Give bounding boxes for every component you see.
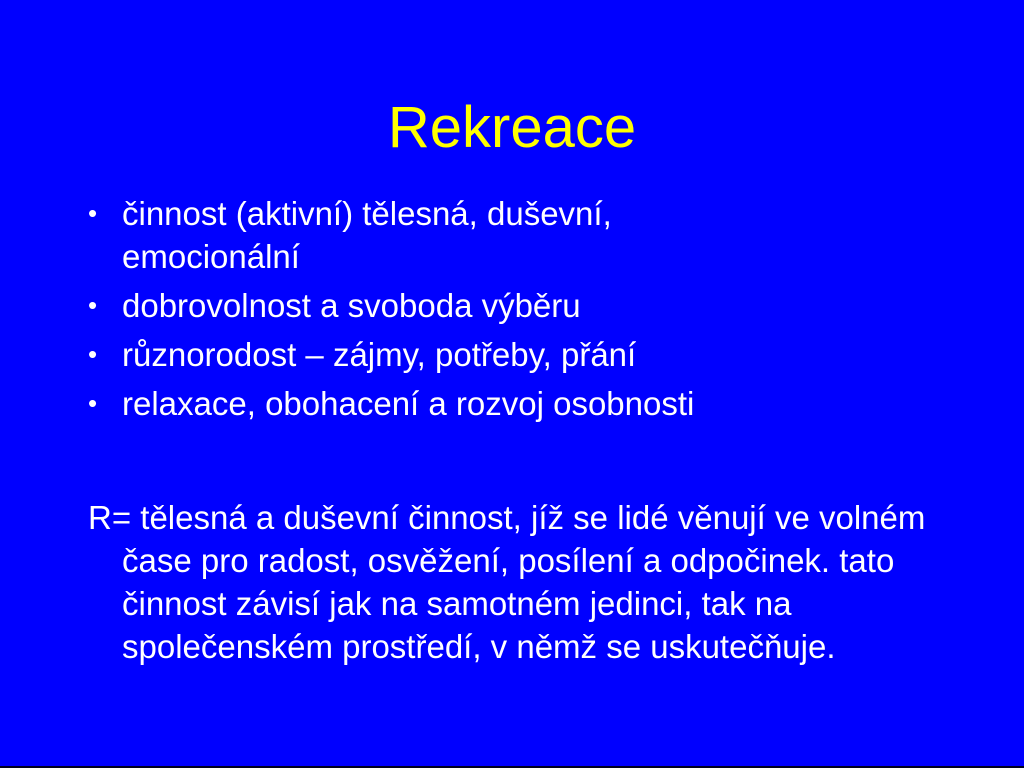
bullet-dot-icon: • — [88, 382, 102, 425]
list-item: • relaxace, obohacení a rozvoj osobnosti — [78, 382, 958, 425]
list-item-label: činnost (aktivní) tělesná, duševní, emoc… — [122, 192, 762, 278]
bullet-list: • činnost (aktivní) tělesná, duševní, em… — [78, 192, 958, 425]
bullet-dot-icon: • — [88, 192, 102, 235]
list-item: • dobrovolnost a svoboda výběru — [78, 284, 958, 327]
list-item-label: dobrovolnost a svoboda výběru — [122, 284, 762, 327]
bullet-dot-icon: • — [88, 284, 102, 327]
list-item-label: relaxace, obohacení a rozvoj osobnosti — [122, 382, 942, 425]
list-item: • různorodost – zájmy, potřeby, přání — [78, 333, 958, 376]
list-item-label: různorodost – zájmy, potřeby, přání — [122, 333, 942, 376]
definition-paragraph: R= tělesná a duševní činnost, jíž se lid… — [88, 496, 968, 668]
definition-block: R= tělesná a duševní činnost, jíž se lid… — [88, 496, 968, 668]
presentation-slide: Rekreace • činnost (aktivní) tělesná, du… — [0, 0, 1024, 768]
bullet-dot-icon: • — [88, 333, 102, 376]
page-title: Rekreace — [0, 96, 1024, 160]
list-item: • činnost (aktivní) tělesná, duševní, em… — [78, 192, 958, 278]
